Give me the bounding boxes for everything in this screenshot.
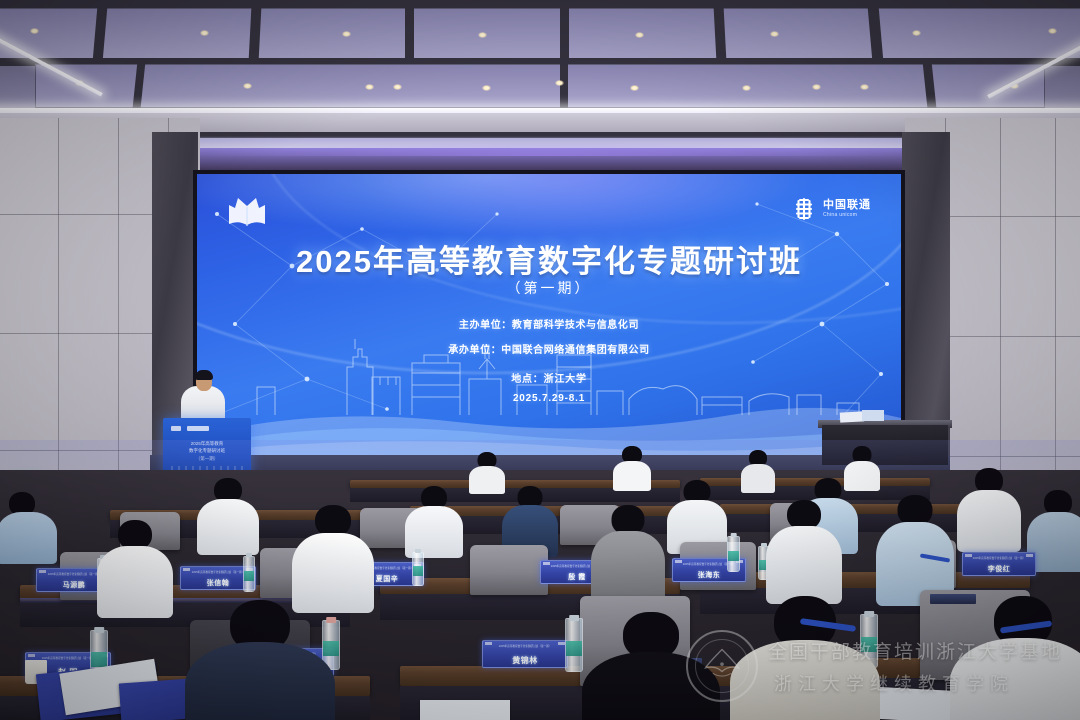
audience-person (100, 520, 170, 615)
unicom-label-en: China unicom (823, 213, 871, 218)
audience-person-foreground (592, 612, 710, 720)
audience-person (595, 505, 661, 605)
screen-surface: 中国联通 China unicom (197, 174, 901, 458)
audience-person (0, 492, 54, 562)
stage-led-screen: 中国联通 China unicom (193, 170, 905, 462)
side-table (822, 425, 948, 465)
screen-org-block: 主办单位：教育部科学技术与信息化司 承办单位：中国联合网络通信集团有限公司 (197, 316, 901, 366)
audience-person (615, 446, 649, 490)
screen-venue-block: 地点：浙江大学 2025.7.29-8.1 (197, 370, 901, 412)
water-bottle (412, 552, 424, 586)
screen-date: 2025.7.29-8.1 (197, 393, 901, 404)
china-unicom-logo: 中国联通 China unicom (791, 196, 871, 222)
placard-subtitle: 2025年高等教育数字化专题研讨班（第一期） (483, 645, 567, 648)
placard-subtitle: 2025年高等教育数字化专题研讨班（第一期） (963, 557, 1035, 560)
audience-person (960, 468, 1018, 550)
audience-person (200, 478, 256, 552)
audience-person (470, 452, 504, 492)
name-placard: 2025年高等教育数字化专题研讨班（第一期） 黄锦林 (482, 640, 568, 668)
audience-person (770, 500, 838, 602)
led-wash-glow (120, 136, 980, 156)
screen-venue: 地点：浙江大学 (197, 370, 901, 385)
podium-title-1: 2025年高等教育 (163, 440, 251, 447)
water-bottle (243, 556, 255, 592)
screen-subtitle: （第一期） (197, 278, 901, 298)
speaker-hair (195, 370, 213, 380)
chair (470, 545, 548, 595)
audience-person (1030, 490, 1080, 570)
folder-on-side-table (862, 410, 884, 421)
water-bottle (727, 536, 740, 572)
podium-logo-row (171, 425, 243, 432)
audience-person (408, 486, 460, 556)
podium-title-2: 数字化专题研讨班 (163, 447, 251, 454)
screen-title: 2025年高等教育数字化专题研讨班 (197, 236, 901, 281)
paper-sheet (420, 700, 510, 720)
audience-person (880, 495, 950, 603)
unicom-mark-icon (791, 196, 817, 222)
podium-title-3: （第一期） (163, 455, 251, 462)
unicom-label-cn: 中国联通 (823, 200, 871, 211)
audience-person-foreground (196, 600, 324, 720)
open-book-icon (225, 194, 269, 234)
name-placard: 2025年高等教育数字化专题研讨班（第一期） 李俊红 (962, 552, 1036, 576)
audience-person-foreground (960, 596, 1080, 720)
conference-hall-photo: EXIT (0, 0, 1080, 720)
audience-person (742, 450, 774, 492)
water-bottle (565, 618, 583, 672)
screen-host: 承办单位：中国联合网络通信集团有限公司 (197, 341, 901, 356)
audience-person (296, 505, 370, 610)
placard-name: 黄锦林 (483, 655, 567, 666)
paper-on-side-table (840, 411, 864, 422)
placard-name: 李俊红 (963, 564, 1035, 574)
audience-person-foreground (740, 596, 870, 720)
screen-organizer: 主办单位：教育部科学技术与信息化司 (197, 316, 901, 331)
